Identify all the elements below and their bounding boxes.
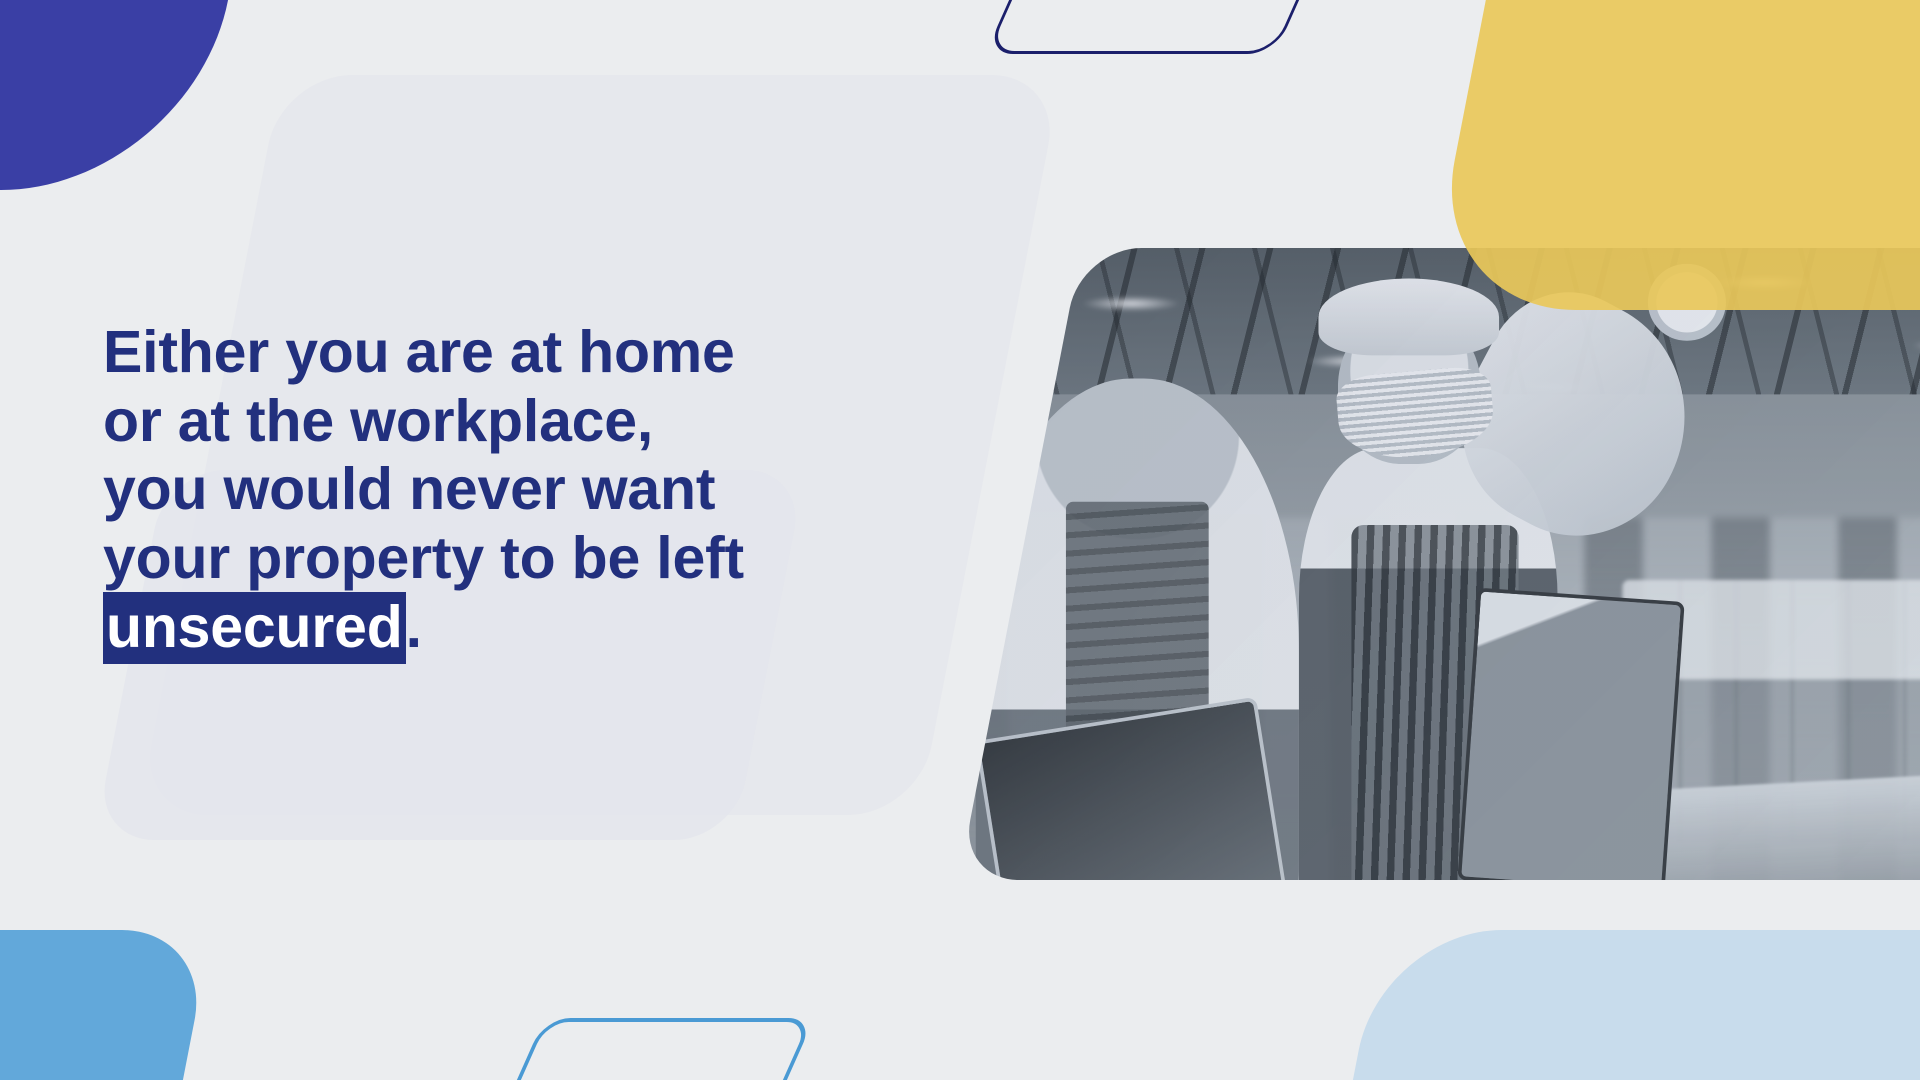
quote-line-4: your property to be left xyxy=(103,524,943,593)
light-blue-outline-parallelogram xyxy=(496,1018,815,1080)
quote-line-3: you would never want xyxy=(103,455,943,524)
highlighted-word: unsecured xyxy=(103,592,406,664)
photo-inner xyxy=(959,248,1920,880)
photo-blue-tint-overlay xyxy=(959,248,1920,880)
yellow-corner-blob xyxy=(1426,0,1920,310)
quote-text: Either you are at home or at the workpla… xyxy=(103,318,943,662)
warehouse-workers-photo xyxy=(959,248,1920,880)
slide-canvas: Either you are at home or at the workpla… xyxy=(0,0,1920,1080)
indigo-corner-blob xyxy=(0,0,269,190)
quote-line-1: Either you are at home xyxy=(103,318,943,387)
pale-blue-corner-blob xyxy=(1318,930,1920,1080)
quote-period: . xyxy=(406,594,422,660)
quote-line-5: unsecured. xyxy=(103,593,943,662)
quote-line-2: or at the workplace, xyxy=(103,387,943,456)
blue-corner-blob xyxy=(0,930,212,1080)
navy-outline-parallelogram xyxy=(985,0,1325,54)
